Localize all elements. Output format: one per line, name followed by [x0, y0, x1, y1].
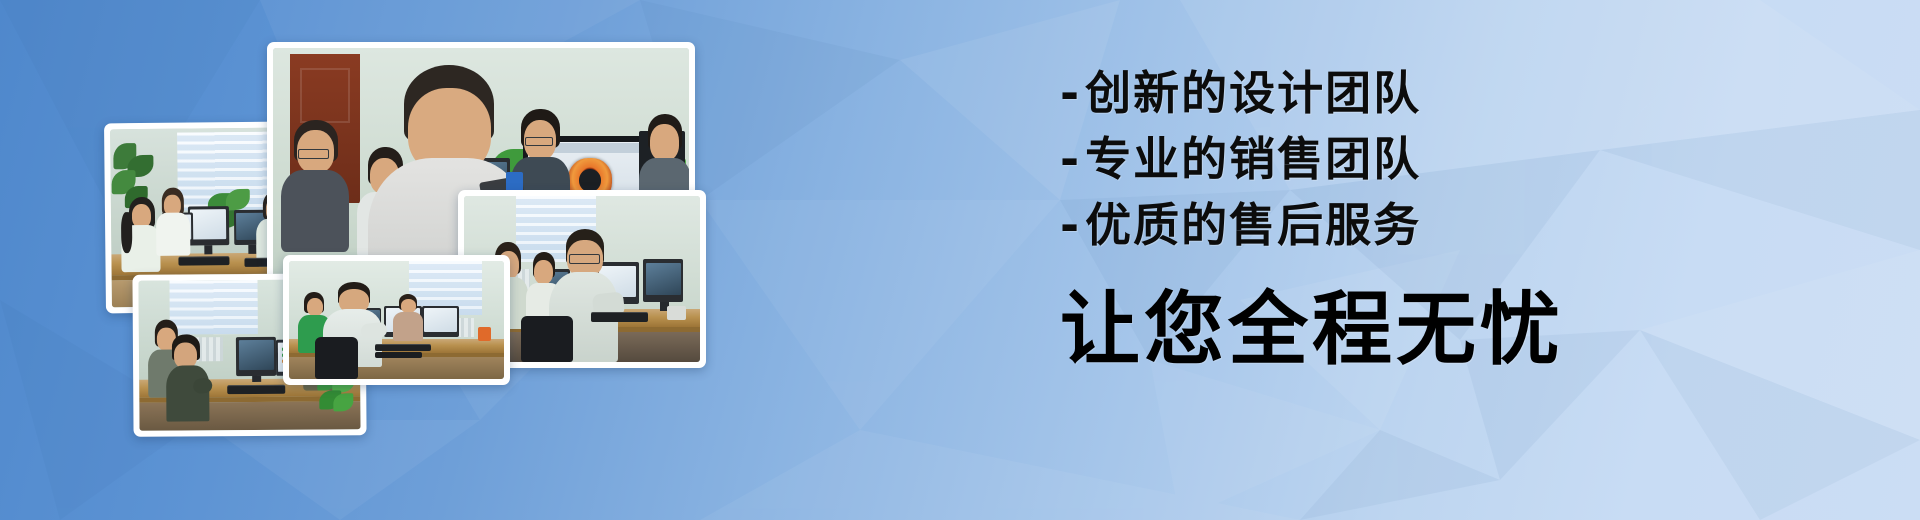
headline-text: 让您全程无忧 — [1060, 284, 1760, 376]
marketing-copy: -创新的设计团队 -专业的销售团队 -优质的售后服务 让您全程无忧 — [1060, 60, 1760, 376]
collage-photo-office-pair-computers — [283, 255, 510, 385]
bullet-line-2: -专业的销售团队 — [1060, 126, 1760, 192]
bullet-line-1: -创新的设计团队 — [1060, 60, 1760, 126]
promo-banner: -创新的设计团队 -专业的销售团队 -优质的售后服务 让您全程无忧 — [0, 0, 1920, 520]
bullet-dash-3: - — [1060, 198, 1081, 252]
bullet-dash-2: - — [1060, 132, 1081, 186]
bullet-label-3: 优质的售后服务 — [1085, 198, 1421, 252]
bullet-dash-1: - — [1060, 66, 1081, 120]
bullet-line-3: -优质的售后服务 — [1060, 192, 1760, 258]
photo-collage — [0, 0, 780, 520]
bullet-label-1: 创新的设计团队 — [1085, 66, 1421, 120]
bullet-label-2: 专业的销售团队 — [1085, 132, 1421, 186]
